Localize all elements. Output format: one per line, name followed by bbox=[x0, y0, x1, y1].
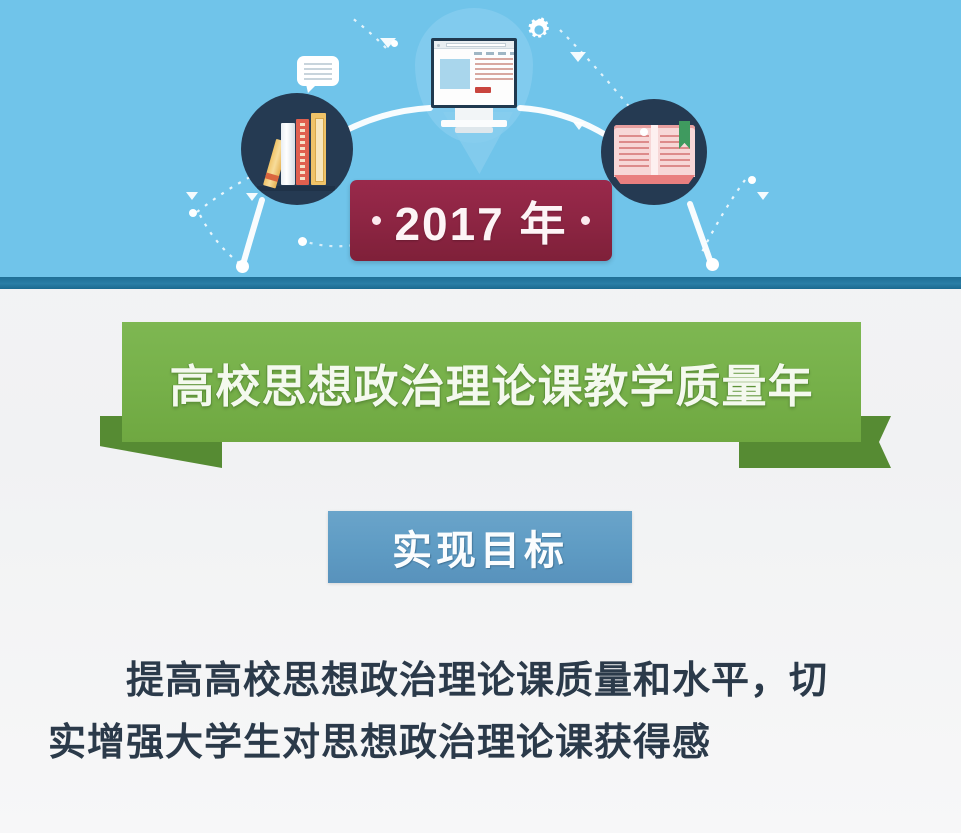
ribbon-title-text: 高校思想政治理论课教学质量年 bbox=[169, 350, 813, 415]
book-icon-red-striped bbox=[296, 119, 309, 185]
webpage-nav-links bbox=[474, 52, 514, 55]
ribbon-band: 高校思想政治理论课教学质量年 bbox=[122, 322, 861, 442]
year-banner-left-dot-icon bbox=[372, 216, 381, 225]
open-book-spine bbox=[651, 125, 658, 181]
webpage-cta-button bbox=[475, 87, 491, 93]
year-banner-label: 2017 年 bbox=[394, 188, 567, 254]
infographic-poster: 2017 年 高校思想政治理论课教学质量年 实现目标 提高高校思想政治理论课质量… bbox=[0, 0, 961, 833]
browser-address-bar bbox=[446, 43, 506, 47]
gear-icon bbox=[524, 15, 554, 45]
monitor-neck bbox=[455, 108, 493, 120]
network-node-dot-icon bbox=[748, 176, 756, 184]
webpage-image-block bbox=[440, 59, 470, 89]
header-bottom-rule bbox=[0, 277, 961, 289]
network-node-dot-icon bbox=[640, 128, 648, 136]
triangle-marker-icon bbox=[573, 122, 585, 130]
browser-dot-icon bbox=[437, 44, 440, 47]
monitor-base-shadow bbox=[455, 127, 493, 133]
network-node-dot-icon bbox=[236, 260, 249, 273]
network-node-dot-icon bbox=[706, 258, 719, 271]
monitor-icon bbox=[431, 38, 517, 108]
triangle-marker-icon bbox=[570, 52, 586, 62]
triangle-marker-icon bbox=[757, 192, 769, 200]
triangle-marker-icon bbox=[186, 192, 198, 200]
year-banner-right-dot-icon bbox=[581, 216, 590, 225]
monitor-base bbox=[441, 120, 507, 127]
ribbon-right-notch bbox=[861, 416, 891, 468]
open-book-base bbox=[614, 175, 695, 184]
header-illustration-band: 2017 年 bbox=[0, 0, 961, 277]
open-book-left-text-lines bbox=[619, 135, 649, 171]
goal-section-heading: 实现目标 bbox=[328, 511, 632, 583]
books-badge bbox=[241, 93, 353, 205]
triangle-marker-icon bbox=[246, 193, 258, 201]
speech-bubble-text-lines bbox=[304, 63, 332, 80]
network-node-dot-icon bbox=[189, 209, 197, 217]
browser-toolbar bbox=[434, 41, 514, 49]
ribbon-title-block: 高校思想政治理论课教学质量年 bbox=[0, 318, 961, 480]
goal-body-line-2: 实增强大学生对思想政治理论课获得感 bbox=[48, 712, 913, 774]
webpage-text-lines bbox=[475, 58, 513, 82]
open-book-badge bbox=[601, 99, 707, 205]
network-node-dot-icon bbox=[298, 237, 307, 246]
goal-body-line-1: 提高高校思想政治理论课质量和水平，切 bbox=[48, 650, 913, 712]
goal-body-paragraph: 提高高校思想政治理论课质量和水平，切 实增强大学生对思想政治理论课获得感 bbox=[48, 650, 913, 774]
year-banner: 2017 年 bbox=[350, 180, 612, 261]
open-book-left-page bbox=[614, 125, 654, 177]
speech-bubble-icon bbox=[297, 56, 339, 86]
book-icon-white bbox=[281, 123, 295, 185]
network-node-dot-icon bbox=[391, 40, 398, 47]
book-icon-yellow bbox=[311, 113, 326, 185]
goal-section-label: 实现目标 bbox=[392, 518, 568, 576]
